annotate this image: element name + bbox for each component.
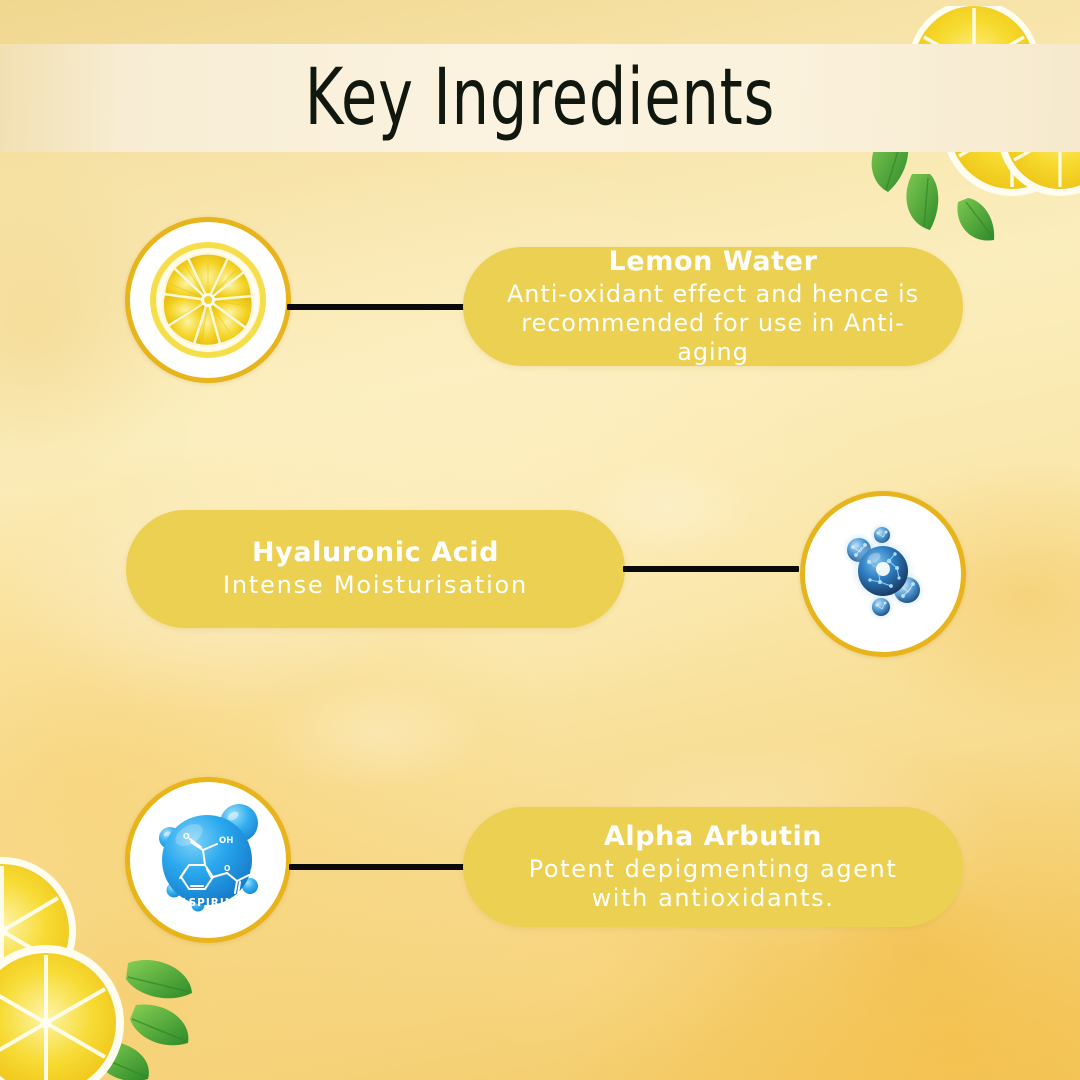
ingredient-row-hyaluronic-acid: Hyaluronic Acid Intense Moisturisation bbox=[0, 480, 1080, 660]
ingredient-card-alpha-arbutin[interactable]: Alpha Arbutin Potent depigmenting agent … bbox=[463, 807, 963, 927]
ingredient-row-alpha-arbutin: OH O O O CH₃ ASPIRIN Alpha Arbutin Poten… bbox=[0, 777, 1080, 957]
ingredient-icon-circle-hyaluronic-acid[interactable] bbox=[800, 491, 966, 657]
molecule-spheres-icon bbox=[823, 514, 943, 634]
connector-line-lemon-water bbox=[287, 304, 465, 310]
atom-label-oh: OH bbox=[219, 836, 233, 846]
ingredient-card-lemon-water[interactable]: Lemon Water Anti-oxidant effect and henc… bbox=[463, 247, 963, 366]
ingredient-title: Hyaluronic Acid bbox=[252, 537, 499, 568]
ingredient-icon-circle-lemon-water[interactable] bbox=[125, 217, 291, 383]
ingredient-description: Potent depigmenting agent with antioxida… bbox=[529, 855, 898, 914]
page-title: Key Ingredients bbox=[305, 59, 775, 137]
ingredient-icon-circle-alpha-arbutin[interactable]: OH O O O CH₃ ASPIRIN bbox=[125, 777, 291, 943]
connector-line-hyaluronic-acid bbox=[623, 566, 799, 572]
ingredient-title: Alpha Arbutin bbox=[604, 821, 822, 852]
atom-label-ch3: CH₃ bbox=[250, 867, 265, 876]
header-banner: Key Ingredients bbox=[0, 44, 1080, 152]
connector-line-alpha-arbutin bbox=[289, 864, 465, 870]
lemon-slice-icon bbox=[144, 236, 272, 364]
ingredient-description: Intense Moisturisation bbox=[223, 571, 528, 600]
atom-label-o-2: O bbox=[224, 864, 230, 873]
key-ingredients-poster: Key Ingredients bbox=[0, 0, 1080, 1080]
ingredient-title: Lemon Water bbox=[609, 246, 818, 277]
aspirin-molecule-icon: OH O O O CH₃ ASPIRIN bbox=[141, 793, 275, 927]
ingredient-card-hyaluronic-acid[interactable]: Hyaluronic Acid Intense Moisturisation bbox=[126, 510, 625, 628]
atom-label-o-1: O bbox=[183, 832, 190, 841]
aspirin-label: ASPIRIN bbox=[179, 897, 234, 909]
ingredient-description: Anti-oxidant effect and hence is recomme… bbox=[489, 280, 937, 368]
ingredient-row-lemon-water: Lemon Water Anti-oxidant effect and henc… bbox=[0, 217, 1080, 397]
